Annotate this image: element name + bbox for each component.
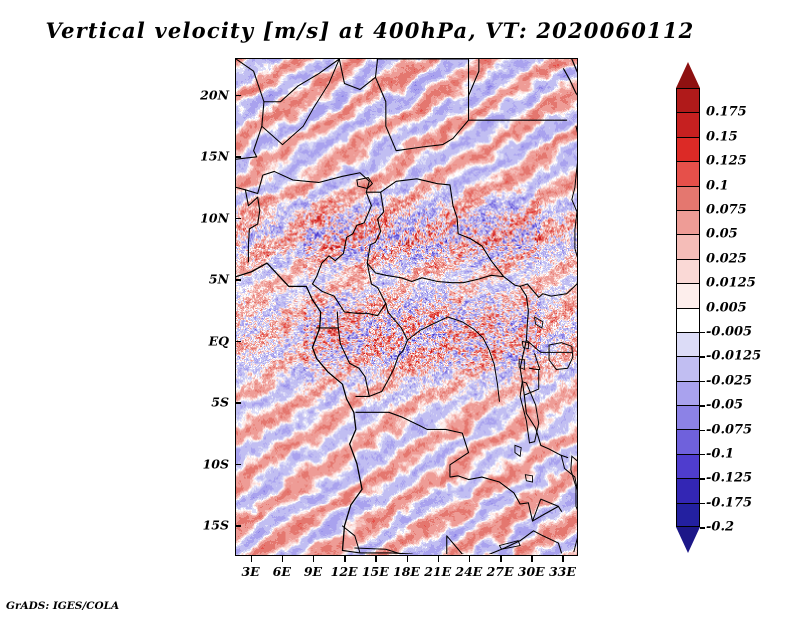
map-boundary-line bbox=[378, 59, 567, 120]
colorbar-band bbox=[676, 454, 700, 478]
colorbar-band bbox=[676, 210, 700, 234]
colorbar-band bbox=[676, 405, 700, 429]
colorbar-tick-mark bbox=[700, 503, 705, 504]
colorbar-tick-label: 0.15 bbox=[706, 129, 738, 144]
map-boundary-line bbox=[342, 526, 359, 553]
colorbar-tick-mark bbox=[700, 478, 705, 479]
colorbar-band bbox=[676, 234, 700, 258]
colorbar-band bbox=[676, 356, 700, 380]
colorbar-tick-mark bbox=[700, 381, 705, 382]
y-tick-mark bbox=[235, 464, 241, 466]
colorbar-band bbox=[676, 137, 700, 161]
map-borders-overlay bbox=[236, 59, 577, 554]
map-boundary-line bbox=[356, 412, 562, 521]
x-tick-mark bbox=[375, 556, 377, 562]
colorbar-tick-label: 0.125 bbox=[706, 154, 747, 169]
y-tick-mark bbox=[235, 218, 241, 220]
y-tick-mark bbox=[235, 156, 241, 158]
map-boundary-line bbox=[312, 284, 385, 316]
map-boundary-line bbox=[236, 263, 362, 550]
map-boundary-line bbox=[236, 59, 339, 102]
map-boundary-shape bbox=[535, 317, 543, 328]
colorbar-tick-label: 0.005 bbox=[706, 300, 747, 315]
colorbar-band bbox=[676, 161, 700, 185]
colorbar-tick-label: -0.005 bbox=[706, 325, 752, 340]
colorbar-band bbox=[676, 186, 700, 210]
map-boundary-shape bbox=[549, 343, 573, 370]
x-tick-mark bbox=[313, 556, 315, 562]
colorbar-tick-label: -0.2 bbox=[706, 520, 734, 535]
colorbar-tick-label: -0.0125 bbox=[706, 349, 761, 364]
x-tick-label: 18E bbox=[393, 564, 420, 579]
map-boundary-line bbox=[356, 263, 408, 396]
colorbar-bands bbox=[676, 88, 700, 527]
y-tick-label: 10S bbox=[203, 456, 229, 471]
map-boundary-line bbox=[520, 284, 577, 297]
y-tick-label: 15N bbox=[200, 149, 229, 164]
colorbar-tick-label: 0.0125 bbox=[706, 276, 756, 291]
y-tick-mark bbox=[235, 341, 241, 343]
map-boundary-line bbox=[524, 369, 538, 395]
map-boundary-line bbox=[245, 190, 259, 262]
map-boundary-shape bbox=[520, 382, 539, 443]
y-tick-label: 5S bbox=[211, 395, 229, 410]
x-tick-label: 21E bbox=[424, 564, 451, 579]
colorbar-tick-label: -0.025 bbox=[706, 373, 752, 388]
x-tick-mark bbox=[407, 556, 409, 562]
map-boundary-line bbox=[407, 317, 499, 401]
x-tick-label: 15E bbox=[362, 564, 389, 579]
colorbar-band bbox=[676, 112, 700, 136]
x-tick-label: 9E bbox=[304, 564, 322, 579]
colorbar-tick-label: -0.075 bbox=[706, 422, 752, 437]
map-boundary-line bbox=[236, 102, 264, 159]
colorbar-tick-label: 0.175 bbox=[706, 105, 747, 120]
map-boundary-line bbox=[447, 536, 489, 554]
colorbar-band bbox=[676, 332, 700, 356]
x-tick-mark bbox=[469, 556, 471, 562]
map-boundary-line bbox=[375, 77, 468, 150]
y-tick-label: 20N bbox=[200, 87, 229, 102]
map-boundary-line bbox=[481, 531, 562, 554]
map-boundary-line bbox=[469, 59, 479, 96]
colorbar-tick-label: 0.025 bbox=[706, 251, 747, 266]
map-boundary-line bbox=[572, 126, 577, 284]
x-axis: 3E6E9E12E15E18E21E24E27E30E33E bbox=[0, 560, 800, 582]
colorbar-band bbox=[676, 381, 700, 405]
colorbar-max-arrow bbox=[676, 62, 700, 88]
y-tick-mark bbox=[235, 525, 241, 527]
colorbar-tick-mark bbox=[700, 332, 705, 333]
y-axis: 20N15N10N5NEQ5S10S15S bbox=[185, 58, 229, 556]
map-boundary-line bbox=[312, 192, 371, 284]
x-tick-label: 6E bbox=[273, 564, 291, 579]
x-tick-label: 12E bbox=[331, 564, 358, 579]
colorbar-band bbox=[676, 478, 700, 502]
x-tick-mark bbox=[500, 556, 502, 562]
map-boundary-line bbox=[366, 179, 520, 287]
colorbar-tick-mark bbox=[700, 356, 705, 357]
map-boundary-shape bbox=[357, 178, 373, 189]
x-tick-mark bbox=[438, 556, 440, 562]
colorbar-band bbox=[676, 429, 700, 453]
y-tick-mark bbox=[235, 279, 241, 281]
y-tick-mark bbox=[235, 95, 241, 97]
page-title: Vertical velocity [m/s] at 400hPa, VT: 2… bbox=[0, 18, 740, 43]
x-tick-mark bbox=[562, 556, 564, 562]
colorbar-tick-label: 0.1 bbox=[706, 178, 729, 193]
x-tick-mark bbox=[282, 556, 284, 562]
colorbar-tick-mark bbox=[700, 527, 705, 528]
colorbar-min-arrow bbox=[676, 527, 700, 553]
map-plot-area bbox=[235, 58, 578, 556]
x-tick-label: 30E bbox=[518, 564, 545, 579]
colorbar-band bbox=[676, 88, 700, 112]
colorbar-tick-mark bbox=[700, 405, 705, 406]
map-boundary-line bbox=[339, 59, 377, 90]
map-boundary-shape bbox=[525, 475, 532, 482]
colorbar: 0.1750.150.1250.10.0750.050.0250.01250.0… bbox=[674, 62, 794, 554]
x-tick-label: 24E bbox=[455, 564, 482, 579]
colorbar-tick-label: 0.075 bbox=[706, 203, 747, 218]
colorbar-tick-label: -0.175 bbox=[706, 495, 752, 510]
y-tick-mark bbox=[235, 402, 241, 404]
colorbar-tick-label: 0.05 bbox=[706, 227, 738, 242]
footer-credit: GrADS: IGES/COLA bbox=[6, 600, 119, 612]
map-boundary-line bbox=[367, 192, 503, 282]
y-tick-label: 15S bbox=[203, 518, 229, 533]
colorbar-tick-label: -0.05 bbox=[706, 398, 743, 413]
x-tick-mark bbox=[251, 556, 253, 562]
colorbar-tick-label: -0.125 bbox=[706, 471, 752, 486]
x-tick-label: 3E bbox=[241, 564, 259, 579]
colorbar-tick-label: -0.1 bbox=[706, 447, 734, 462]
map-boundary-line bbox=[564, 69, 577, 128]
colorbar-tick-mark bbox=[700, 430, 705, 431]
colorbar-band bbox=[676, 503, 700, 527]
map-boundary-shape bbox=[571, 456, 577, 516]
x-tick-label: 27E bbox=[487, 564, 514, 579]
x-tick-mark bbox=[531, 556, 533, 562]
x-tick-mark bbox=[344, 556, 346, 562]
x-tick-label: 33E bbox=[549, 564, 576, 579]
colorbar-tick-mark bbox=[700, 454, 705, 455]
map-boundary-line bbox=[529, 354, 539, 370]
map-boundary-line bbox=[236, 171, 369, 193]
map-boundary-line bbox=[520, 286, 568, 457]
colorbar-band bbox=[676, 283, 700, 307]
colorbar-band bbox=[676, 259, 700, 283]
map-boundary-line bbox=[533, 499, 559, 521]
y-tick-label: 5N bbox=[209, 272, 229, 287]
map-boundary-line bbox=[561, 456, 577, 551]
map-boundary-shape bbox=[515, 445, 521, 456]
y-tick-label: EQ bbox=[209, 333, 229, 348]
colorbar-band bbox=[676, 308, 700, 332]
y-tick-label: 10N bbox=[200, 210, 229, 225]
